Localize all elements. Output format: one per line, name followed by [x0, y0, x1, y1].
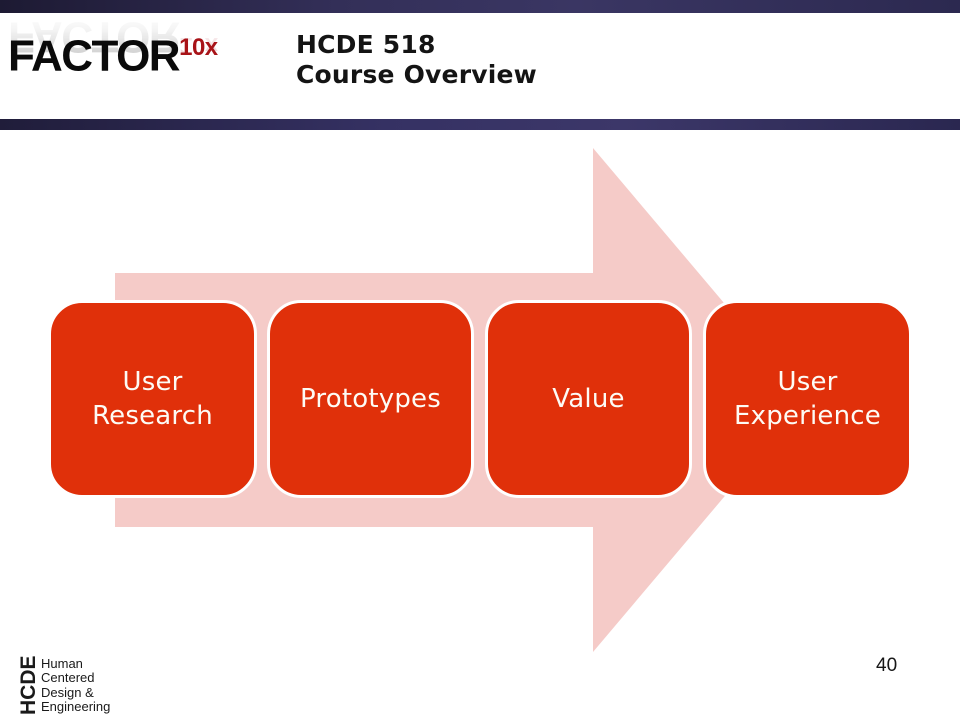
process-step-label: User Research	[86, 365, 219, 433]
process-step-label: Value	[546, 382, 630, 416]
hcde-wordmark-line-2: Centered	[41, 671, 110, 685]
hcde-wordmark: Human Centered Design & Engineering	[41, 656, 110, 714]
hcde-wordmark-line-3: Design &	[41, 686, 110, 700]
process-step-label: User Experience	[728, 365, 887, 433]
hcde-wordmark-line-1: Human	[41, 657, 110, 671]
page-number: 40	[876, 655, 897, 677]
process-step-prototypes[interactable]: Prototypes	[267, 300, 474, 498]
process-step-label: Prototypes	[294, 382, 447, 416]
hcde-wordmark-line-4: Engineering	[41, 700, 110, 714]
process-step-list: User Research Prototypes Value User Expe…	[0, 0, 960, 720]
process-step-user-research[interactable]: User Research	[48, 300, 257, 498]
hcde-acronym: HCDE	[18, 656, 39, 714]
process-step-value[interactable]: Value	[485, 300, 692, 498]
process-step-user-experience[interactable]: User Experience	[703, 300, 912, 498]
hcde-logo: HCDE Human Centered Design & Engineering	[18, 656, 110, 714]
slide-canvas: FACTOR10x FACTOR10x HCDE 518 Course Over…	[0, 0, 960, 720]
